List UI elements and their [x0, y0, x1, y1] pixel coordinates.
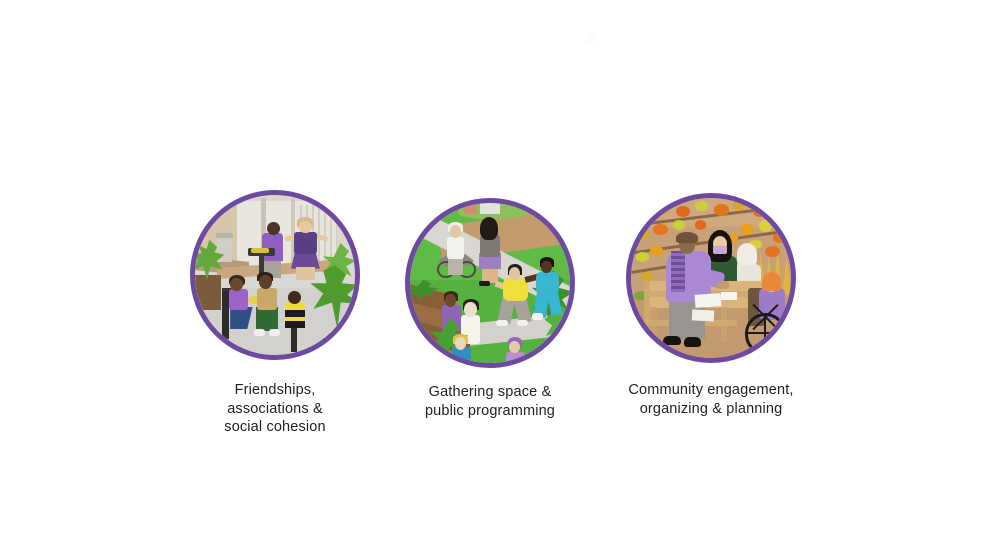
courtyard-barbecue-illustration [195, 195, 355, 355]
concept-item-community-engagement[interactable]: Community engagement, organizing & plann… [581, 193, 841, 418]
autumn-meeting-illustration [631, 198, 791, 358]
friendships-caption: Friendships, associations & social cohes… [224, 381, 325, 437]
slide-canvas: Friendships, associations & social cohes… [0, 0, 996, 560]
gathering-space-caption: Gathering space & public programming [425, 383, 555, 420]
gathering-space-badge[interactable] [405, 198, 575, 368]
faint-artifact [586, 34, 595, 43]
community-engagement-caption: Community engagement, organizing & plann… [628, 381, 793, 418]
community-engagement-badge[interactable] [626, 193, 796, 363]
friendships-badge[interactable] [190, 190, 360, 360]
park-gathering-illustration [410, 203, 570, 363]
